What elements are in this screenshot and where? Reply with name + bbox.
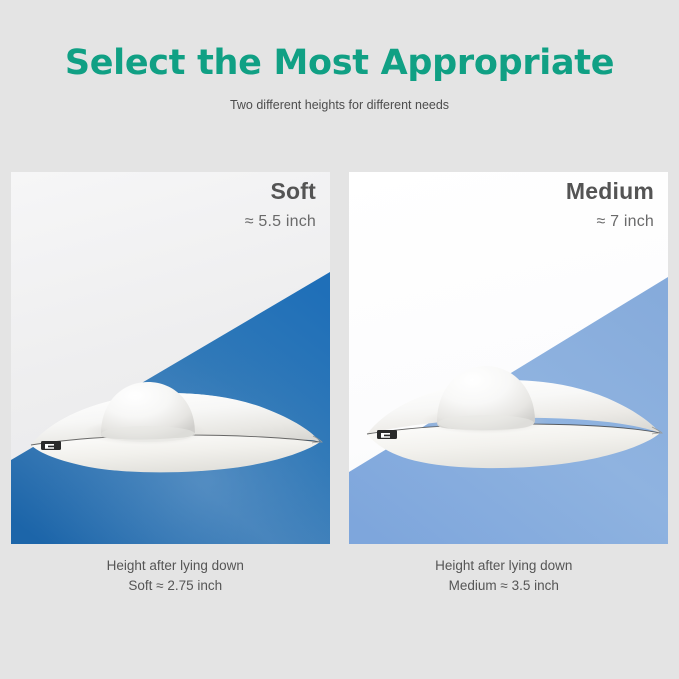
comparison-panels: Soft ≈ 5.5 inch bbox=[11, 172, 668, 544]
panel-soft[interactable]: Soft ≈ 5.5 inch bbox=[11, 172, 330, 544]
panel-medium[interactable]: Medium ≈ 7 inch bbox=[349, 172, 668, 544]
caption-medium-line1: Height after lying down bbox=[340, 556, 669, 576]
panel-medium-firmness-label: Medium bbox=[566, 178, 654, 204]
caption-soft-line2: Soft ≈ 2.75 inch bbox=[11, 576, 340, 596]
panel-captions: Height after lying down Soft ≈ 2.75 inch… bbox=[11, 556, 668, 596]
panel-medium-labels: Medium ≈ 7 inch bbox=[566, 178, 654, 232]
caption-soft-line1: Height after lying down bbox=[11, 556, 340, 576]
panel-soft-firmness-label: Soft bbox=[245, 178, 316, 204]
caption-medium: Height after lying down Medium ≈ 3.5 inc… bbox=[340, 556, 669, 596]
panel-medium-height-label: ≈ 7 inch bbox=[566, 204, 654, 231]
page-title: Select the Most Appropriate bbox=[0, 0, 679, 83]
page-subtitle: Two different heights for different need… bbox=[0, 83, 679, 112]
page-header: Select the Most Appropriate Two differen… bbox=[0, 0, 679, 112]
caption-medium-line2: Medium ≈ 3.5 inch bbox=[340, 576, 669, 596]
panel-soft-labels: Soft ≈ 5.5 inch bbox=[245, 178, 316, 232]
panel-soft-height-label: ≈ 5.5 inch bbox=[245, 204, 316, 231]
caption-soft: Height after lying down Soft ≈ 2.75 inch bbox=[11, 556, 340, 596]
